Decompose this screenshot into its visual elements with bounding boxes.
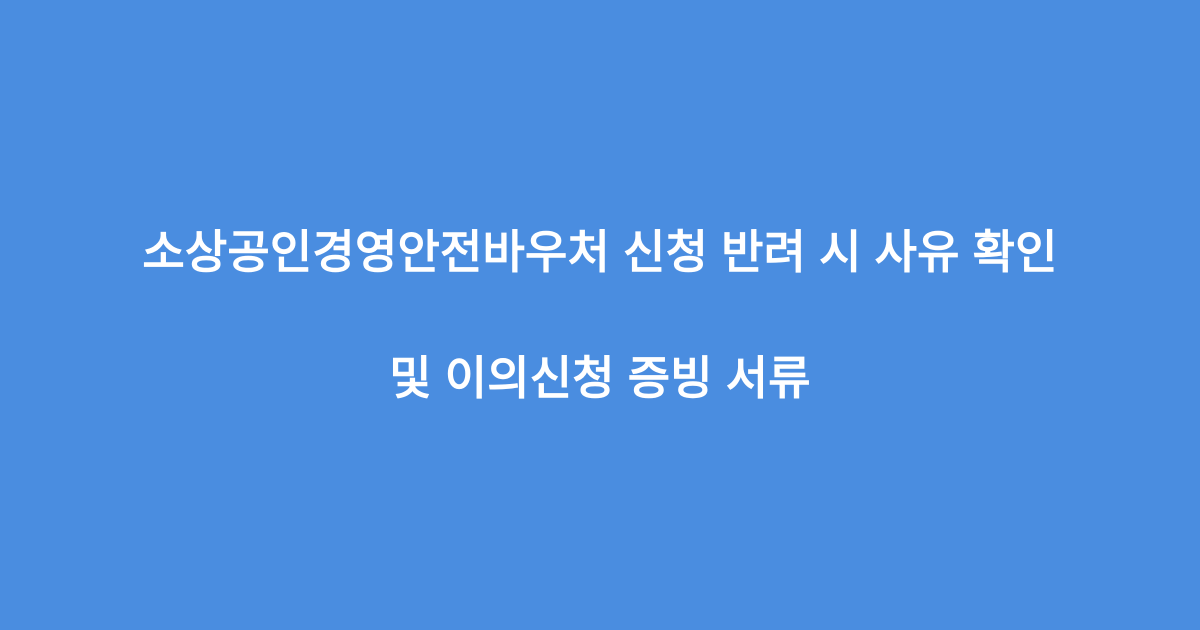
headline-line-2: 및 이의신청 증빙 서류 [90,347,1110,410]
og-share-card: 소상공인경영안전바우처 신청 반려 시 사유 확인 및 이의신청 증빙 서류 [0,0,1200,630]
page-title: 소상공인경영안전바우처 신청 반려 시 사유 확인 및 이의신청 증빙 서류 [90,158,1110,473]
headline-block: 소상공인경영안전바우처 신청 반려 시 사유 확인 및 이의신청 증빙 서류 [70,158,1130,473]
headline-line-1: 소상공인경영안전바우처 신청 반려 시 사유 확인 [90,221,1110,284]
